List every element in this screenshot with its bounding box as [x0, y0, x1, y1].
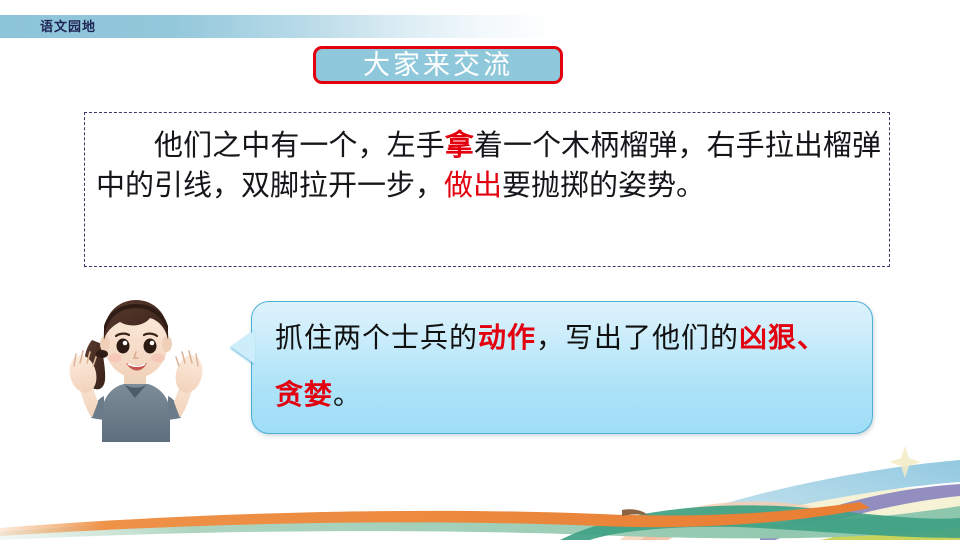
header-title: 语文园地 [40, 18, 96, 35]
bubble-segment: ，写出了他们的 [536, 323, 739, 354]
passage-highlight-zuochu: 做出 [444, 170, 502, 202]
passage-text: 他们之中有一个，左手拿着一个木柄榴弹，右手拉出榴弹中的引线，双脚拉开一步，做出要… [85, 113, 889, 206]
header-bar [0, 15, 960, 38]
speech-bubble-tail [231, 330, 255, 364]
girl-illustration [58, 292, 218, 442]
speech-bubble-text: 抓住两个士兵的动作，写出了他们的凶狠、贪婪。 [275, 310, 855, 424]
passage-box: 他们之中有一个，左手拿着一个木柄榴弹，右手拉出榴弹中的引线，双脚拉开一步，做出要… [84, 112, 890, 267]
passage-highlight-na: 拿 [445, 130, 474, 162]
speech-bubble: 抓住两个士兵的动作，写出了他们的凶狠、贪婪。 [231, 301, 873, 434]
passage-segment: 他们之中有一个，左手 [154, 130, 445, 162]
section-title-pill: 大家来交流 [313, 46, 563, 84]
slide-canvas: 语文园地 大家来交流 他们之中有一个，左手拿着一个木柄榴弹，右手拉出榴弹中的引线… [0, 0, 960, 540]
bubble-segment: 。 [333, 380, 362, 411]
bubble-highlight-dongzuo: 动作 [478, 323, 536, 354]
section-title-label: 大家来交流 [363, 50, 513, 80]
passage-segment: 要抛掷的姿势。 [502, 170, 705, 202]
bubble-segment: 抓住两个士兵的 [275, 323, 478, 354]
